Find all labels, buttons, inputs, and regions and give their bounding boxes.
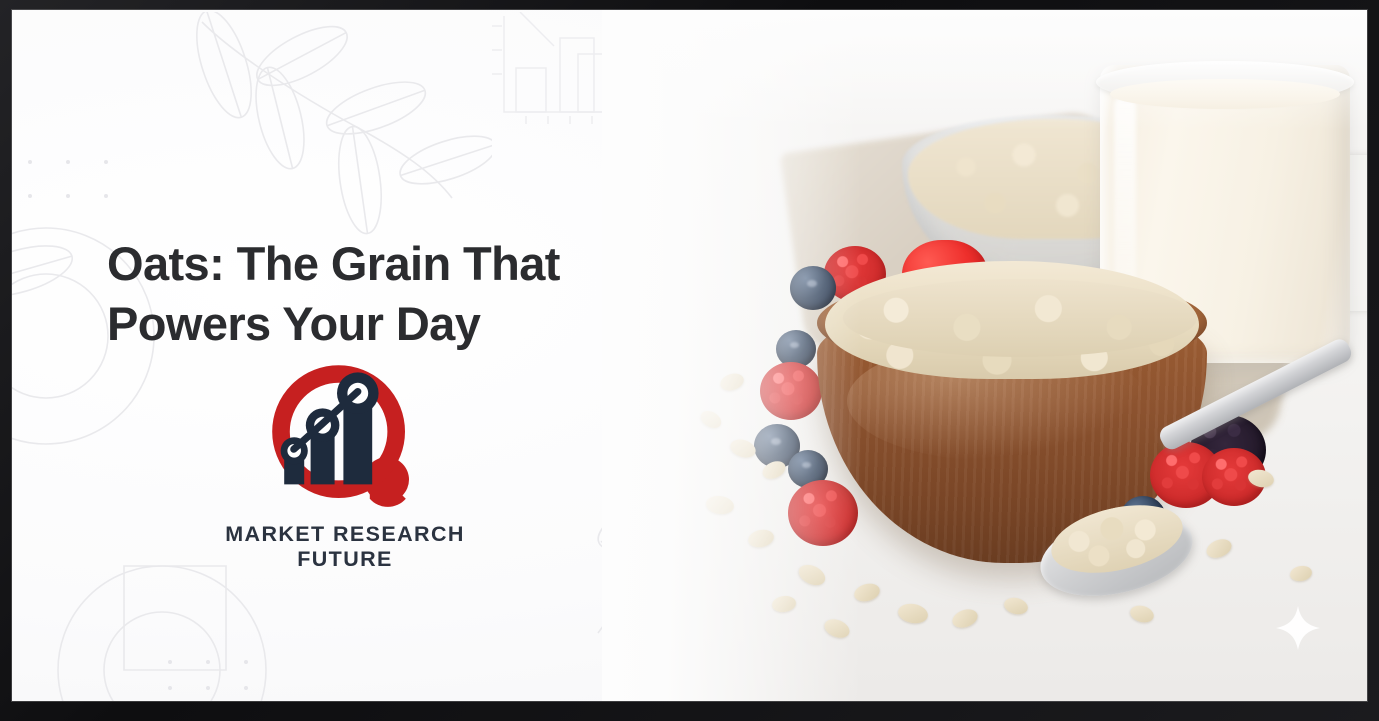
logo-wordmark: MARKET RESEARCH FUTURE (180, 522, 510, 572)
headline-line-1: Oats: The Grain That (107, 234, 667, 294)
photo-edge-fade (602, 10, 1367, 130)
sparkle-icon (1275, 605, 1321, 651)
page-title: Oats: The Grain That Powers Your Day (107, 234, 667, 353)
magnifying-glass-bar-chart-icon (265, 358, 425, 518)
headline-line-2: Powers Your Day (107, 294, 667, 354)
rolled-oats-detail (843, 279, 1197, 357)
slide-frame: Oats: The Grain That Powers Your Day (0, 0, 1379, 721)
hero-photo (602, 10, 1367, 701)
brand-logo: MARKET RESEARCH FUTURE (180, 358, 510, 572)
slide-canvas: Oats: The Grain That Powers Your Day (12, 10, 1367, 701)
rolled-oats (825, 261, 1199, 379)
